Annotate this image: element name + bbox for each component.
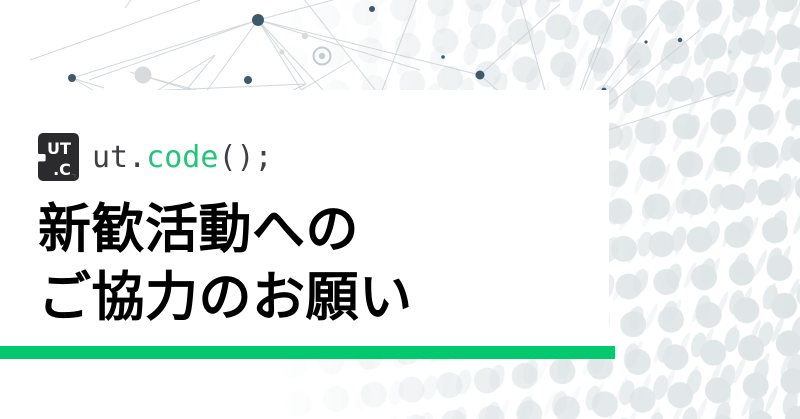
headline-line-2: ご協力のお願い [38, 264, 413, 332]
headline: 新歓活動への ご協力のお願い [38, 196, 413, 332]
logo-mark-bottom-text: .C [53, 160, 71, 179]
ring-accent-icon [314, 48, 331, 65]
logo-mark-top-text: UT [47, 139, 71, 158]
wordmark-prefix: ut. [92, 140, 146, 175]
brand-wordmark: ut.code(); [92, 143, 273, 173]
wordmark-suffix: (); [218, 140, 272, 175]
wordmark-accent: code [146, 140, 218, 175]
utcode-logo-mark-icon: UT .C [38, 133, 80, 181]
poster-canvas: UT .C ut.code(); 新歓活動への ご協力のお願い [0, 0, 800, 419]
headline-line-1: 新歓活動への [38, 196, 413, 264]
brand-lockup: UT .C ut.code(); [38, 133, 273, 181]
green-accent-bar [0, 346, 615, 359]
